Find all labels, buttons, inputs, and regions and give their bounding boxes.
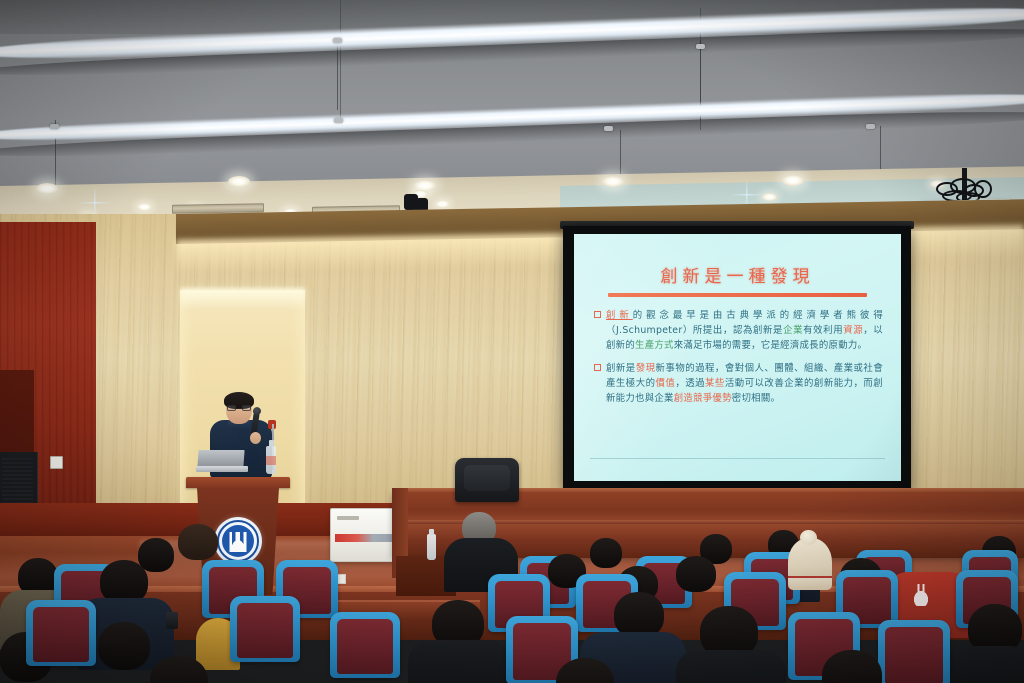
laptop-keyboard[interactable] [196, 466, 248, 472]
ceiling-downlight [782, 175, 804, 186]
ceiling-clip [866, 124, 875, 129]
bullet-square-icon [594, 364, 601, 371]
attendee-shoulders [676, 650, 786, 683]
auditorium-seat[interactable] [26, 600, 96, 666]
slide-bullet-text: 創新是發現新事物的過程，會對個人、團體、組織、產業或社會產生極大的價值，透過某些… [606, 361, 883, 407]
projected-slide: 創新是一種發現 創新的觀念最早是由古典學派的經濟學者熊彼得（J.Schumpet… [574, 234, 901, 481]
ceiling-clip [50, 124, 59, 129]
attendee-head [98, 622, 150, 670]
ceiling-downlight [435, 200, 450, 208]
glasses-icon [227, 405, 251, 411]
ceiling-clip [334, 118, 343, 123]
ceiling-downlight [602, 176, 624, 187]
ceiling-downlight [762, 193, 777, 201]
wall-light-switch[interactable] [50, 456, 63, 469]
podium-top-surface [186, 477, 290, 488]
reindeer-motif-icon [908, 584, 934, 606]
slide-bullet-text: 創新的觀念最早是由古典學派的經濟學者熊彼得（J.Schumpeter）所提出，認… [606, 308, 883, 354]
auditorium-seat[interactable] [230, 596, 300, 662]
ceiling-clip [604, 126, 613, 131]
attendee-shoulders [940, 646, 1024, 683]
knit-hat [788, 538, 832, 590]
ceiling-downlight [36, 183, 58, 194]
ceiling-downlight [228, 176, 250, 187]
auditorium-seat[interactable] [330, 612, 400, 678]
attendee-head [178, 524, 218, 560]
slide-bullet-item: 創新是發現新事物的過程，會對個人、團體、組織、產業或社會產生極大的價值，透過某些… [594, 361, 883, 407]
slide-bullet-list: 創新的觀念最早是由古典學派的經濟學者熊彼得（J.Schumpeter）所提出，認… [586, 308, 889, 406]
lecture-hall-scene: 創新是一種發現 創新的觀念最早是由古典學派的經濟學者熊彼得（J.Schumpet… [0, 0, 1024, 683]
attendee-head [590, 538, 622, 568]
podium-water-bottle [266, 446, 276, 474]
attendee-shoulders [408, 640, 510, 683]
slide-title: 創新是一種發現 [586, 262, 889, 287]
laptop-screen[interactable] [197, 450, 244, 467]
hat-pompom [800, 530, 817, 545]
niche-top-glow [180, 288, 305, 310]
slide-title-underline [608, 293, 867, 297]
slide-bullet-item: 創新的觀念最早是由古典學派的經濟學者熊彼得（J.Schumpeter）所提出，認… [594, 308, 883, 354]
bottle-label [266, 456, 276, 465]
ceiling-downlight [137, 203, 152, 211]
auditorium-seat[interactable] [878, 620, 950, 683]
audience-area [0, 500, 1024, 683]
slide-footer-rule [590, 458, 885, 459]
attendee-head [138, 538, 174, 572]
ceiling-clip [696, 44, 705, 49]
bullet-square-icon [594, 311, 601, 318]
office-chair[interactable] [455, 458, 519, 502]
mobile-phone[interactable] [166, 612, 178, 629]
hat-brim [788, 576, 832, 590]
attendee-head [676, 556, 716, 592]
ceiling-clip [333, 38, 342, 43]
presenter-hand [250, 432, 261, 444]
